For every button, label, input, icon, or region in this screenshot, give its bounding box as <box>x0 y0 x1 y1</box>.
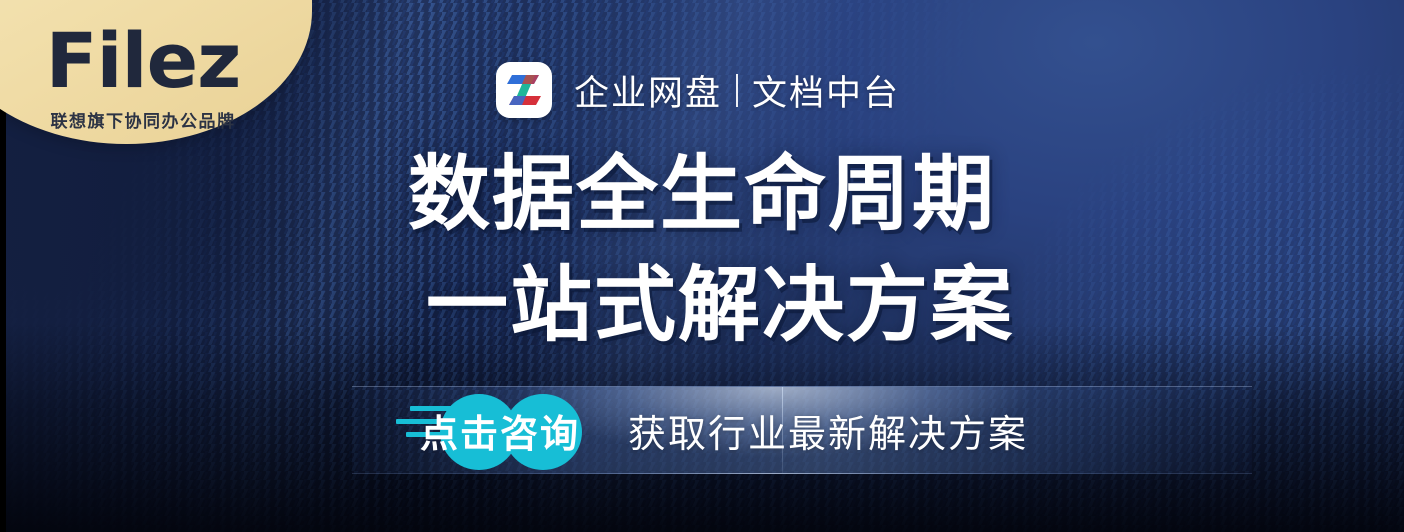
cta-description: 获取行业最新解决方案 <box>628 403 1028 458</box>
brand-tagline: 联想旗下协同办公品牌 <box>51 107 236 132</box>
consult-cta-button[interactable]: 点击咨询 <box>420 403 580 458</box>
marketing-banner: Filez 联想旗下协同办公品牌 企业网盘 文档中台 数据全生命周期 一站式解决… <box>0 0 1404 532</box>
product-title: 企业网盘 文档中台 <box>574 65 900 116</box>
filez-z-app-icon <box>496 62 552 118</box>
headline-line-1: 数据全生命周期 <box>408 148 1048 241</box>
product-name: 企业网盘 <box>574 65 722 116</box>
product-subname: 文档中台 <box>752 65 900 116</box>
product-title-separator <box>736 74 738 107</box>
product-identity-row: 企业网盘 文档中台 <box>496 62 900 118</box>
brand-wordmark: Filez <box>46 23 241 99</box>
cta-text-group: 点击咨询 获取行业最新解决方案 <box>420 403 1028 458</box>
headline-line-2: 一站式解决方案 <box>426 259 1048 352</box>
headline: 数据全生命周期 一站式解决方案 <box>408 148 1048 353</box>
